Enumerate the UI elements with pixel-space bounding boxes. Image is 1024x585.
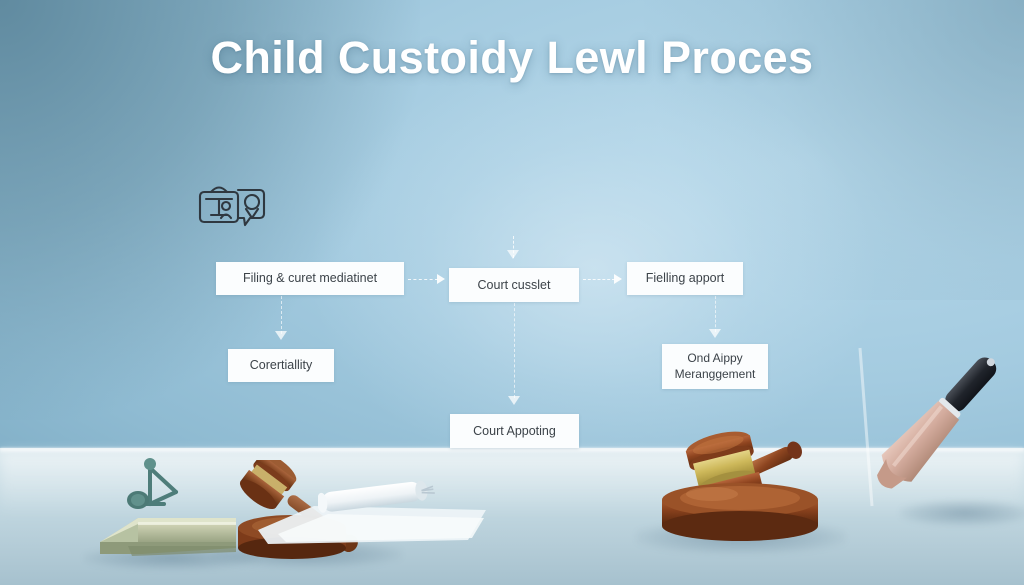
page-title: Child Custoidy Lewl Proces (0, 32, 1024, 84)
flow-box-court-custody[interactable]: Court cusslet (449, 268, 579, 302)
flow-box-filing[interactable]: Filing & curet mediatinet (216, 262, 404, 295)
rolled-document (318, 478, 438, 518)
flow-box-arrangement-label-line1: Ond Aippy (675, 351, 756, 367)
pen (846, 336, 1018, 522)
arrowhead-filing-to-court (437, 274, 445, 284)
arrowhead-report-to-arrangement (709, 329, 721, 338)
arrowhead-into-court (507, 250, 519, 259)
flow-box-filing-report[interactable]: Fielling apport (627, 262, 743, 295)
flow-box-filing-report-label: Fielling apport (646, 270, 725, 287)
flow-box-court-appointing-label: Court Appoting (473, 423, 556, 440)
flow-box-confidentiality-label: Corertiallity (250, 357, 313, 374)
gavel-right (652, 424, 828, 544)
court-document-person-icon (196, 178, 268, 230)
connector-filing-to-court (408, 279, 438, 280)
flow-box-court-custody-label: Court cusslet (478, 277, 551, 294)
connector-court-to-appoint (514, 303, 515, 398)
scales-of-justice-icon (120, 458, 192, 512)
flow-box-court-appointing[interactable]: Court Appoting (450, 414, 579, 448)
flow-box-confidentiality[interactable]: Corertiallity (228, 349, 334, 382)
connector-filing-to-conf (281, 296, 282, 334)
flow-box-arrangement-label-line2: Meranggement (675, 367, 756, 383)
flow-box-arrangement[interactable]: Ond Aippy Meranggement (662, 344, 768, 389)
arrowhead-filing-to-conf (275, 331, 287, 340)
connector-report-to-arrangement (715, 296, 716, 332)
scene: Child Custoidy Lewl Proces (0, 0, 1024, 585)
flow-box-filing-label: Filing & curet mediatinet (243, 270, 377, 287)
arrowhead-court-to-appoint (508, 396, 520, 405)
arrowhead-court-to-report (614, 274, 622, 284)
connector-court-to-report (583, 279, 615, 280)
